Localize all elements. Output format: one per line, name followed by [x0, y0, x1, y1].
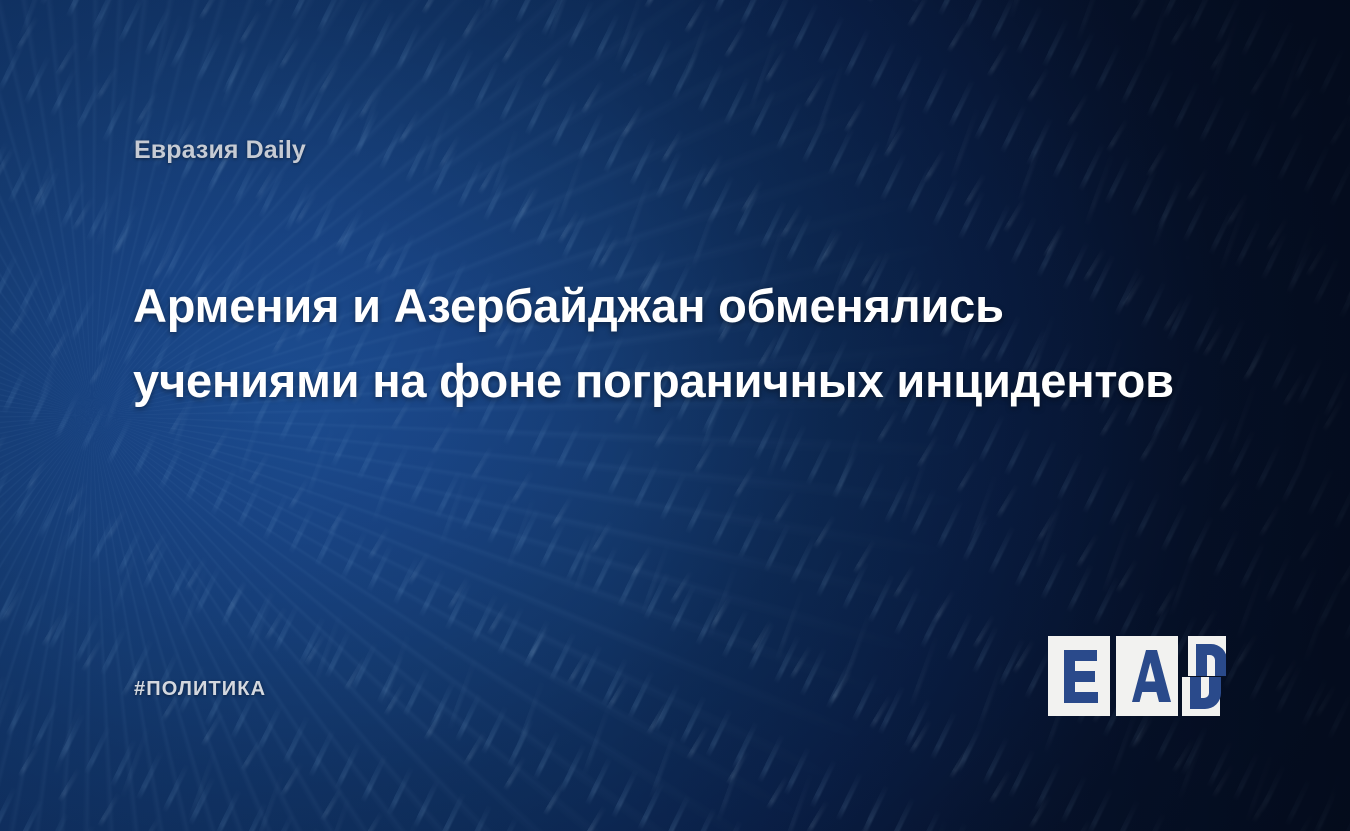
headline: Армения и Азербайджан обменялись учениям…: [133, 268, 1193, 418]
eadaily-logo-mark: [1048, 632, 1226, 720]
brand-name: Евразия Daily: [134, 136, 306, 165]
eadaily-logo: [1048, 632, 1226, 720]
card-content: Евразия Daily Армения и Азербайджан обме…: [0, 0, 1350, 831]
category-tag: #ПОЛИТИКА: [134, 678, 266, 701]
news-card: Евразия Daily Армения и Азербайджан обме…: [0, 0, 1350, 831]
